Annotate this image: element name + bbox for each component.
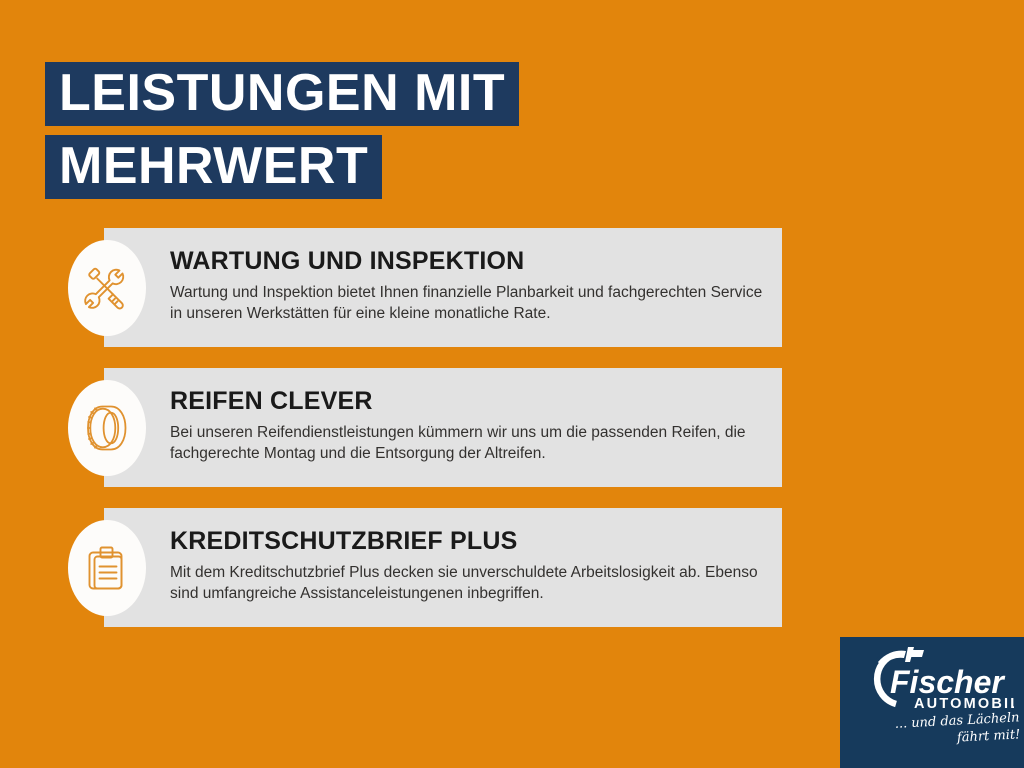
service-card: REIFEN CLEVER Bei unseren Reifendienstle…	[0, 368, 1024, 487]
fischer-automobile-logo: Fischer AUTOMOBILE ... und das Lächeln f…	[840, 637, 1024, 768]
wrench-screwdriver-icon	[68, 240, 146, 336]
service-card-list: WARTUNG UND INSPEKTION Wartung und Inspe…	[0, 228, 1024, 648]
service-card: KREDITSCHUTZBRIEF PLUS Mit dem Kreditsch…	[0, 508, 1024, 627]
page-title: LEISTUNGEN MIT MEHRWERT	[45, 62, 519, 199]
service-card-heading: KREDITSCHUTZBRIEF PLUS	[170, 527, 770, 555]
service-card: WARTUNG UND INSPEKTION Wartung und Inspe…	[0, 228, 1024, 347]
service-card-text: KREDITSCHUTZBRIEF PLUS Mit dem Kreditsch…	[170, 527, 770, 604]
service-card-heading: WARTUNG UND INSPEKTION	[170, 247, 770, 275]
logo-tagline: ... und das Lächeln fährt mit!	[879, 709, 1021, 750]
tire-icon	[68, 380, 146, 476]
service-card-body: Mit dem Kreditschutzbrief Plus decken si…	[170, 562, 770, 604]
service-card-heading: REIFEN CLEVER	[170, 387, 770, 415]
service-card-text: REIFEN CLEVER Bei unseren Reifendienstle…	[170, 387, 770, 464]
logo-wordmark: Fischer AUTOMOBILE	[854, 645, 1014, 715]
service-card-body: Wartung und Inspektion bietet Ihnen fina…	[170, 282, 770, 324]
clipboard-icon	[68, 520, 146, 616]
logo-brand-text: Fischer	[890, 664, 1005, 700]
page-title-line-2: MEHRWERT	[45, 135, 382, 199]
service-card-text: WARTUNG UND INSPEKTION Wartung und Inspe…	[170, 247, 770, 324]
service-card-body: Bei unseren Reifendienstleistungen kümme…	[170, 422, 770, 464]
page-title-line-1: LEISTUNGEN MIT	[45, 62, 519, 126]
